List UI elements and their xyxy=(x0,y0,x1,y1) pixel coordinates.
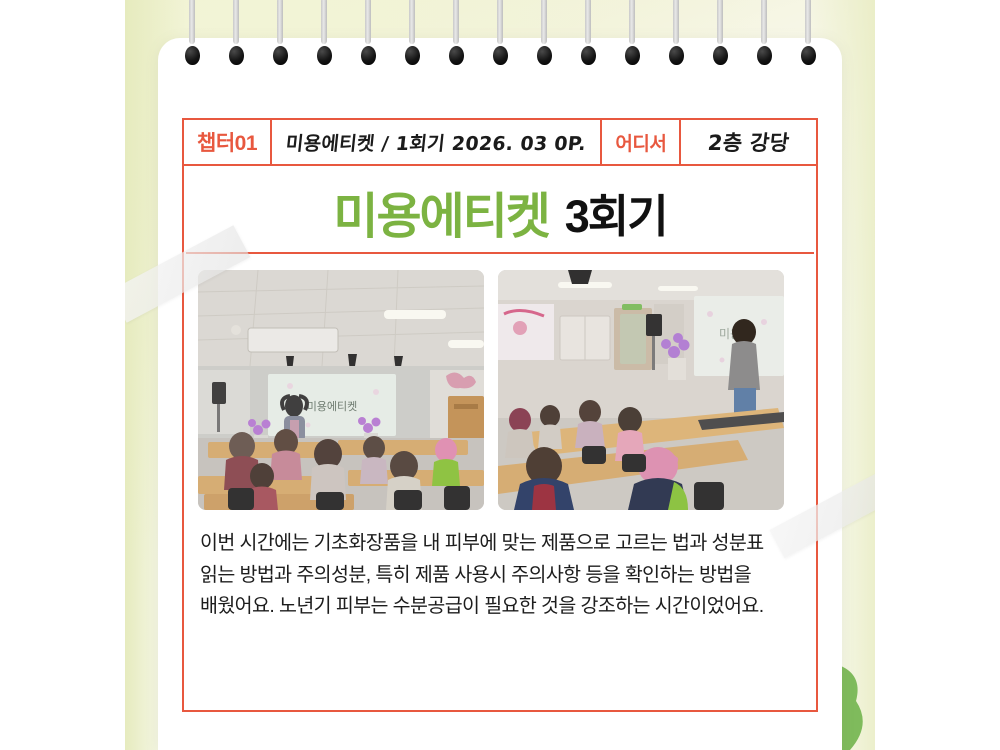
spiral-bead xyxy=(581,46,596,65)
photo-gallery: 미용에티켓 xyxy=(184,254,816,510)
spiral-bead xyxy=(273,46,288,65)
spiral-wire xyxy=(629,0,635,44)
spiral-bead xyxy=(317,46,332,65)
place-cell: 2층 강당 xyxy=(681,120,816,164)
spiral-bead xyxy=(493,46,508,65)
topic-cell: 미용에티켓 / 1회기 2026. 03 0P. xyxy=(272,120,600,164)
spiral-wire xyxy=(277,0,283,44)
spiral-wire xyxy=(673,0,679,44)
place-text: 2층 강당 xyxy=(706,127,791,157)
spiral-bead xyxy=(185,46,200,65)
page-title: 미용에티켓 3회기 xyxy=(184,166,816,252)
where-label: 어디서 xyxy=(602,120,679,164)
chapter-badge: 챕터01 xyxy=(184,120,270,164)
spiral-wire xyxy=(409,0,415,44)
spiral-bead xyxy=(801,46,816,65)
spiral-wire xyxy=(497,0,503,44)
spiral-wire xyxy=(805,0,811,44)
spiral-wire xyxy=(189,0,195,44)
poster-canvas: 챕터01 미용에티켓 / 1회기 2026. 03 0P. 어디서 2층 강당 … xyxy=(0,0,1000,750)
spiral-bead xyxy=(405,46,420,65)
spiral-wire xyxy=(761,0,767,44)
title-highlight: 미용에티켓 xyxy=(333,177,548,248)
spiral-bead xyxy=(229,46,244,65)
notepad-card: 챕터01 미용에티켓 / 1회기 2026. 03 0P. 어디서 2층 강당 … xyxy=(158,38,842,750)
letterbox-right xyxy=(875,0,1000,750)
spiral-bead xyxy=(669,46,684,65)
spiral-wire xyxy=(453,0,459,44)
spiral-wire xyxy=(585,0,591,44)
classroom-presentation-photo: 미용에티켓 xyxy=(198,270,484,510)
content-frame: 챕터01 미용에티켓 / 1회기 2026. 03 0P. 어디서 2층 강당 … xyxy=(182,118,818,712)
info-header-row: 챕터01 미용에티켓 / 1회기 2026. 03 0P. 어디서 2층 강당 xyxy=(184,120,816,166)
spiral-wire xyxy=(233,0,239,44)
summary-paragraph: 이번 시간에는 기초화장품을 내 피부에 맞는 제품으로 고르는 법과 성분표 … xyxy=(184,510,816,623)
spiral-wire xyxy=(365,0,371,44)
spiral-bead xyxy=(625,46,640,65)
spiral-wire xyxy=(541,0,547,44)
spiral-bead xyxy=(361,46,376,65)
spiral-bead xyxy=(449,46,464,65)
title-rest: 3회기 xyxy=(565,180,667,245)
spiral-binding xyxy=(158,0,842,95)
spiral-bead xyxy=(537,46,552,65)
spiral-bead xyxy=(713,46,728,65)
spiral-wire xyxy=(321,0,327,44)
spiral-wire xyxy=(717,0,723,44)
spiral-bead xyxy=(757,46,772,65)
letterbox-left xyxy=(0,0,125,750)
topic-text: 미용에티켓 / 1회기 2026. 03 0P. xyxy=(285,129,588,156)
participants-listening-photo: 미용 xyxy=(498,270,784,510)
